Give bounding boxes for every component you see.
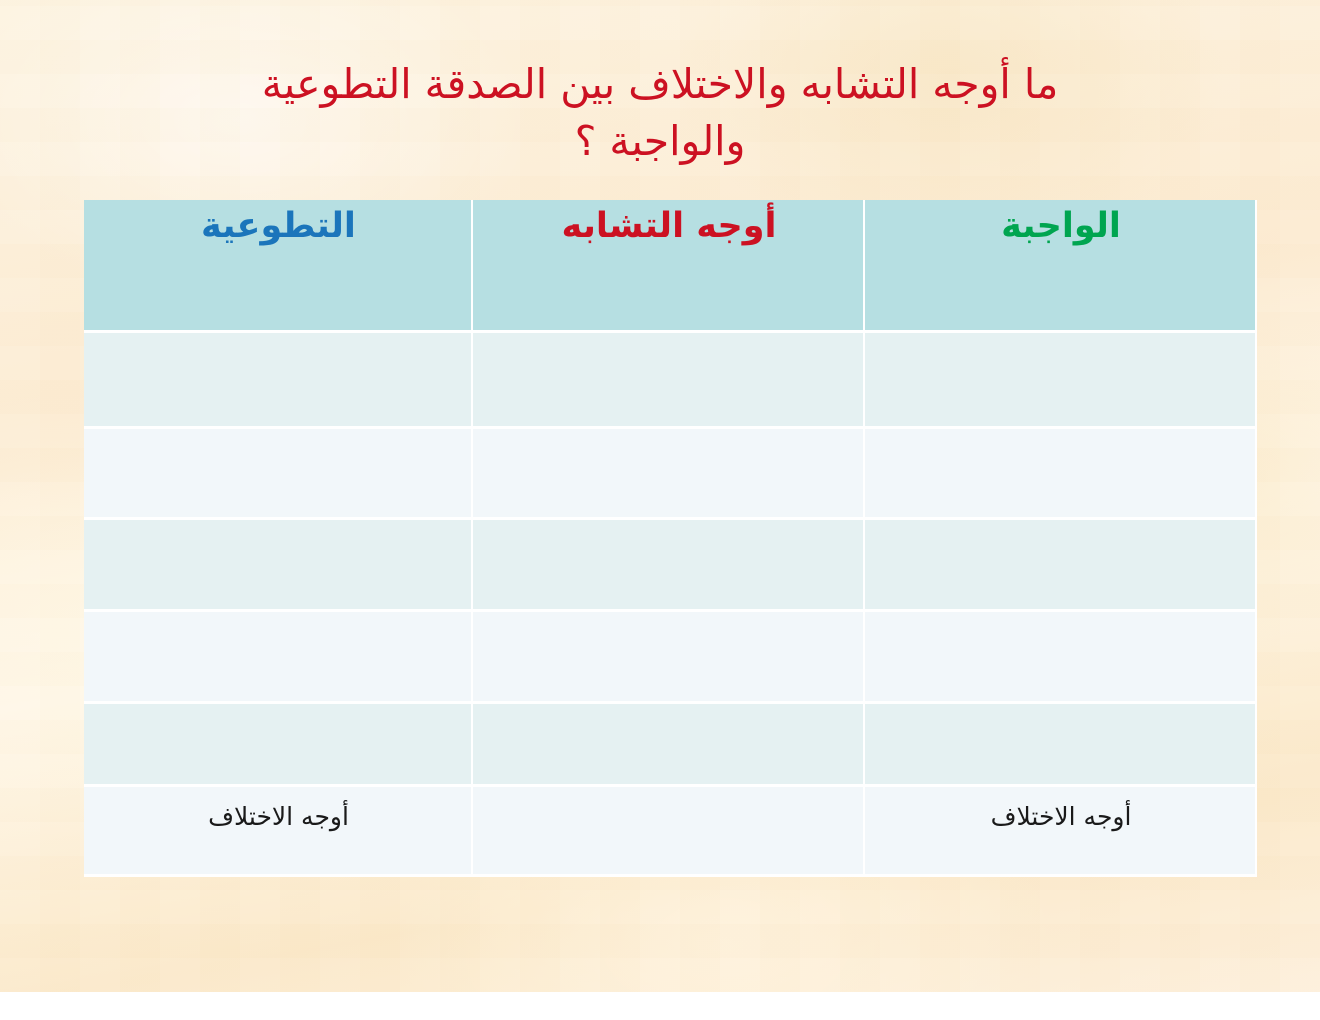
cell-text <box>881 333 1241 348</box>
cell-text <box>100 429 457 444</box>
cell-text: أوجه الاختلاف <box>100 787 457 832</box>
table-header: الواجبة أوجه التشابه التطوعية <box>84 200 1257 333</box>
table-body: أوجه الاختلاف أوجه الاختلاف <box>84 333 1257 877</box>
column-header-similarities: أوجه التشابه <box>473 200 865 333</box>
column-header-waajiba: الواجبة <box>865 200 1257 333</box>
cell-waajiba[interactable] <box>865 612 1257 704</box>
cell-similarities[interactable] <box>473 429 865 520</box>
column-header-tatawwuiyya: التطوعية <box>84 200 473 333</box>
cell-similarities[interactable] <box>473 612 865 704</box>
cell-text <box>881 612 1241 627</box>
cell-similarities[interactable] <box>473 333 865 429</box>
cell-tatawwuiyya[interactable] <box>84 704 473 787</box>
comparison-table: الواجبة أوجه التشابه التطوعية <box>84 200 1257 877</box>
cell-text <box>489 704 849 719</box>
cell-text <box>489 787 849 802</box>
cell-waajiba[interactable] <box>865 704 1257 787</box>
cell-text <box>100 612 457 627</box>
cell-tatawwuiyya[interactable] <box>84 333 473 429</box>
slide-bottom-margin <box>0 992 1320 1020</box>
cell-text <box>100 520 457 535</box>
cell-differences-middle[interactable] <box>473 787 865 877</box>
table-row <box>84 429 1257 520</box>
slide-canvas: ما أوجه التشابه والاختلاف بين الصدقة الت… <box>0 0 1320 992</box>
table-row-differences: أوجه الاختلاف أوجه الاختلاف <box>84 787 1257 877</box>
cell-waajiba[interactable] <box>865 429 1257 520</box>
table-row <box>84 612 1257 704</box>
table-header-row: الواجبة أوجه التشابه التطوعية <box>84 200 1257 333</box>
cell-differences-waajiba[interactable]: أوجه الاختلاف <box>865 787 1257 877</box>
cell-text <box>881 704 1241 719</box>
cell-similarities[interactable] <box>473 704 865 787</box>
cell-text <box>489 520 849 535</box>
cell-tatawwuiyya[interactable] <box>84 612 473 704</box>
table-row <box>84 520 1257 612</box>
cell-text <box>489 429 849 444</box>
cell-tatawwuiyya[interactable] <box>84 429 473 520</box>
page-title: ما أوجه التشابه والاختلاف بين الصدقة الت… <box>120 56 1200 169</box>
cell-tatawwuiyya[interactable] <box>84 520 473 612</box>
cell-text <box>881 520 1241 535</box>
cell-differences-tatawwuiyya[interactable]: أوجه الاختلاف <box>84 787 473 877</box>
cell-text: أوجه الاختلاف <box>881 787 1241 832</box>
cell-text <box>100 333 457 348</box>
cell-text <box>489 612 849 627</box>
cell-waajiba[interactable] <box>865 520 1257 612</box>
cell-text <box>100 704 457 719</box>
cell-text <box>489 333 849 348</box>
table-row <box>84 704 1257 787</box>
cell-similarities[interactable] <box>473 520 865 612</box>
cell-waajiba[interactable] <box>865 333 1257 429</box>
table-row <box>84 333 1257 429</box>
cell-text <box>881 429 1241 444</box>
